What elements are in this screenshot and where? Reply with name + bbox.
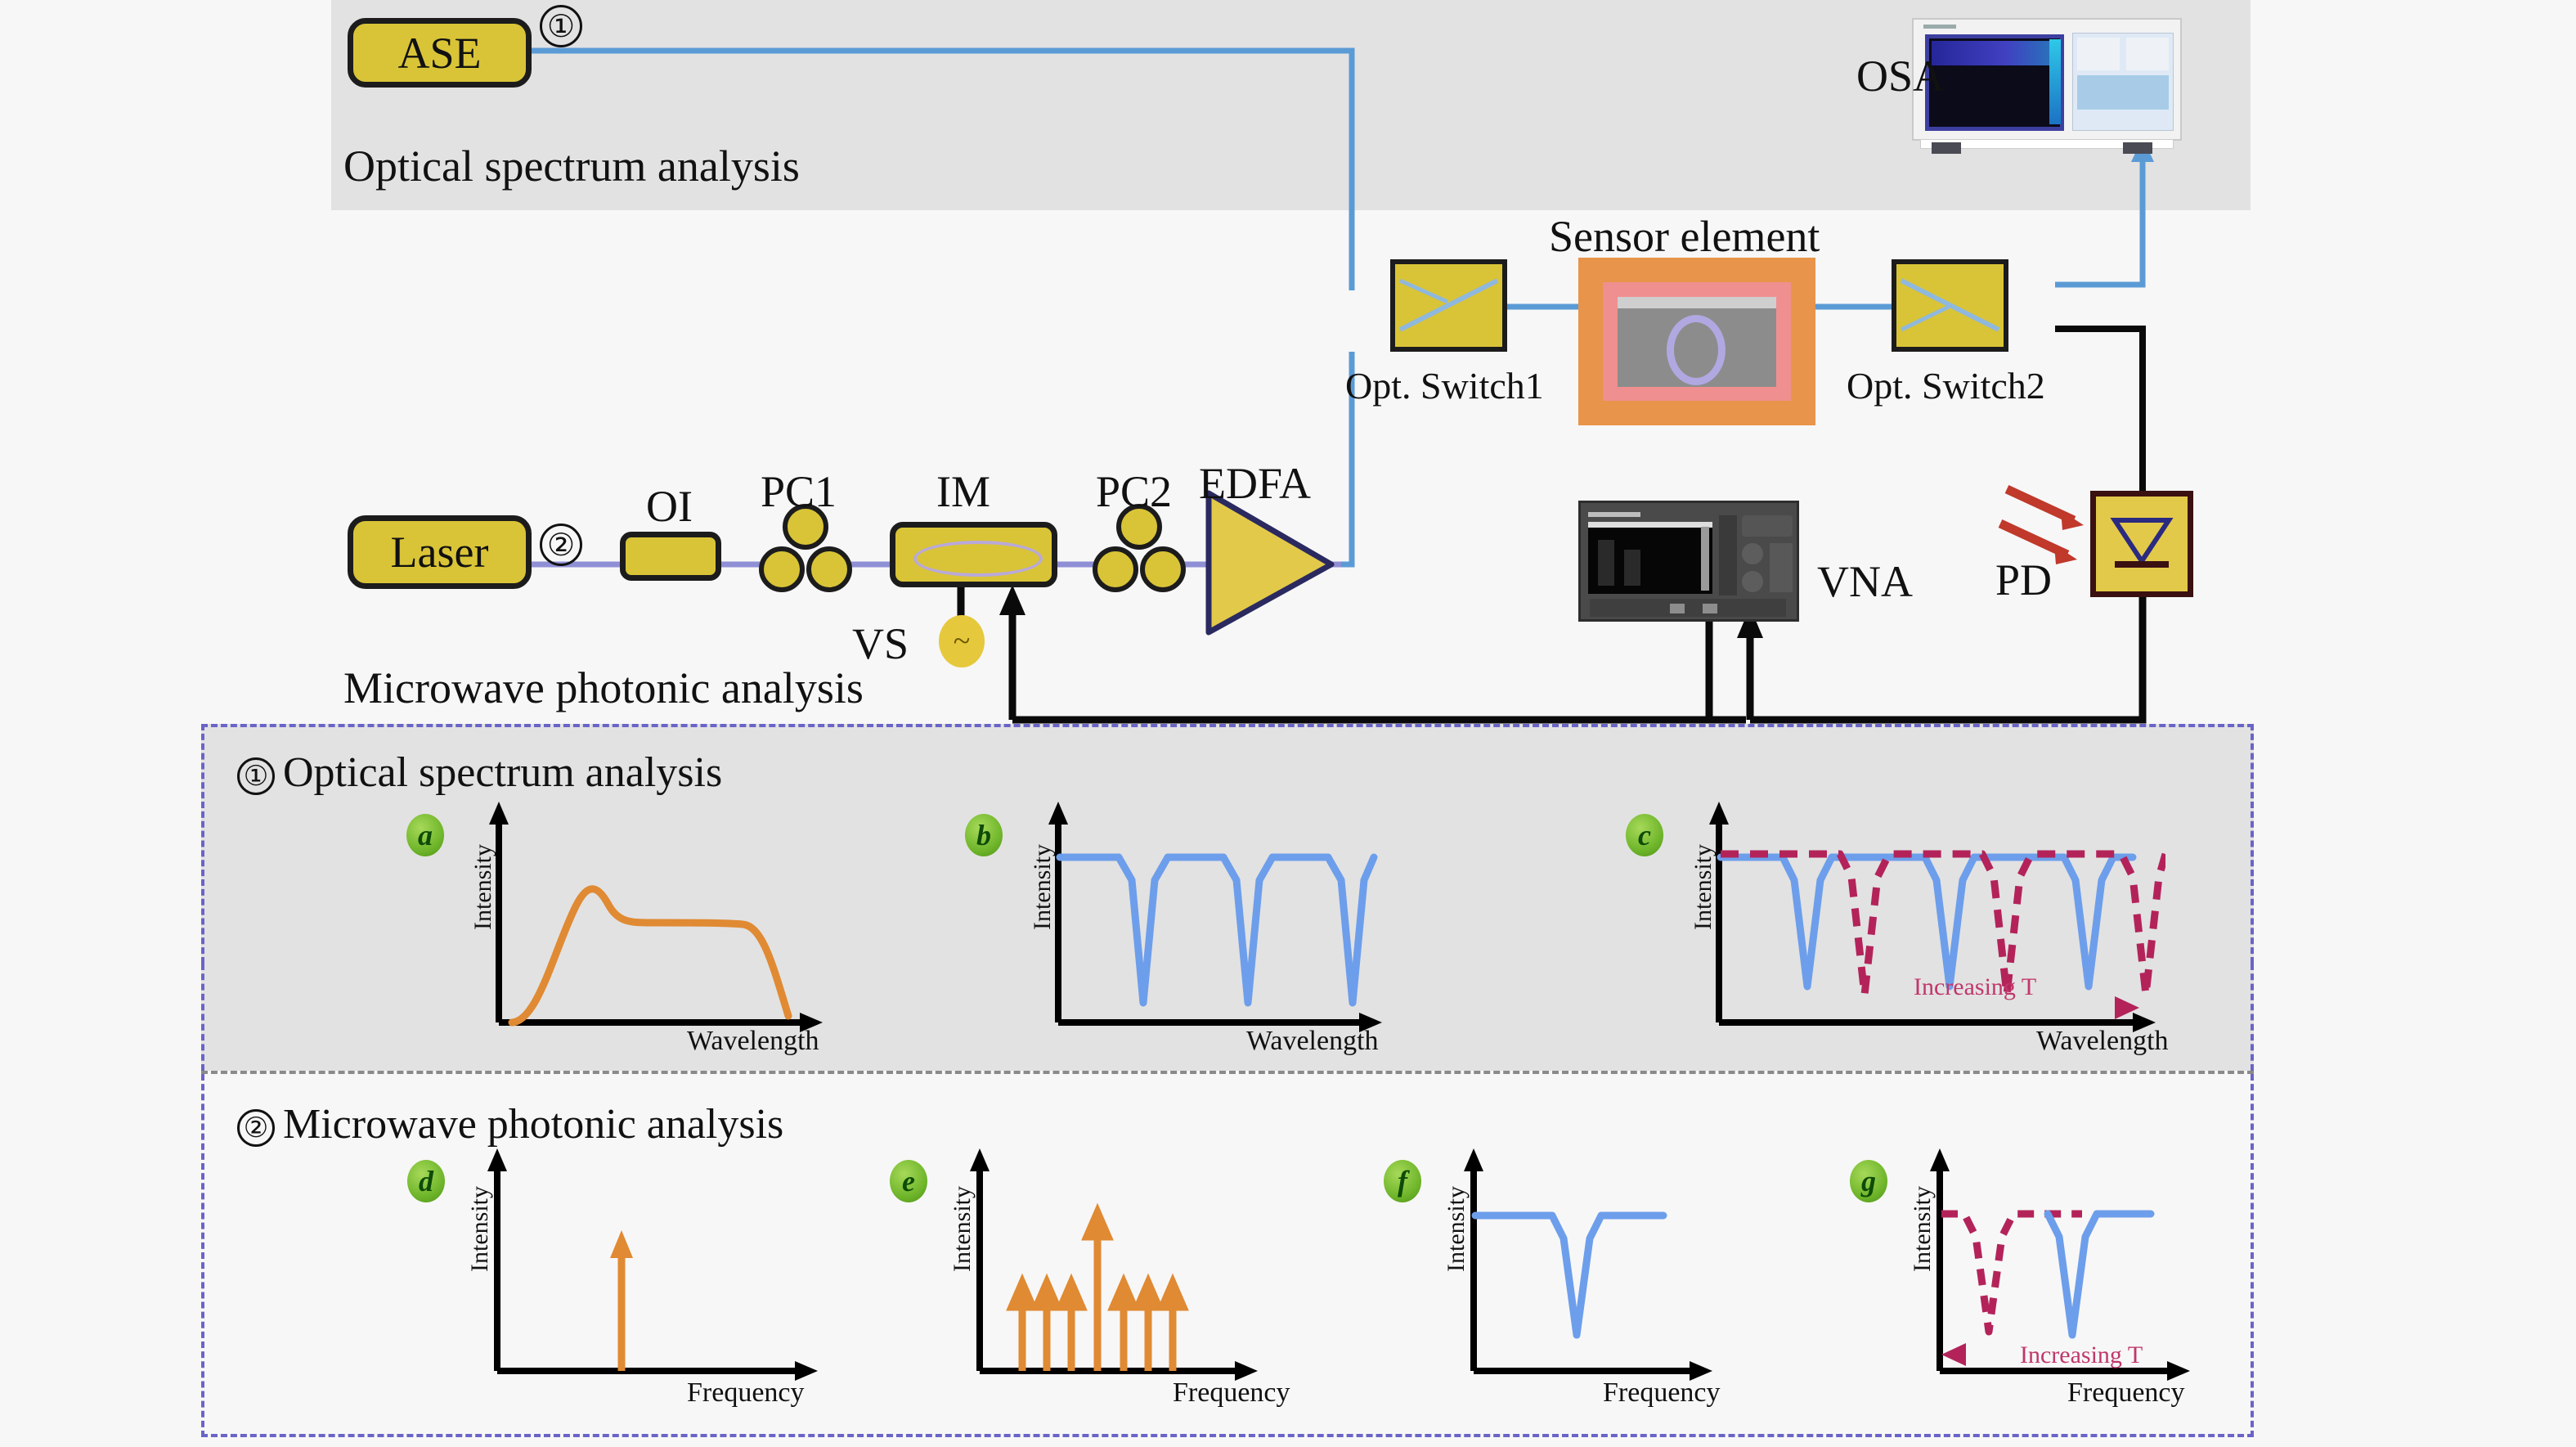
panel1-title: ①Optical spectrum analysis (237, 748, 722, 797)
vs-sine-symbol: ~ (954, 623, 971, 659)
intensity-modulator-label: IM (936, 466, 990, 517)
plot-b-xlabel: Wavelength (1246, 1026, 1379, 1057)
marker-circle-2: ② (540, 524, 582, 566)
edfa-label: EDFA (1199, 458, 1311, 509)
intensity-modulator-box[interactable] (890, 522, 1057, 587)
plot-a-chart (487, 802, 831, 1039)
plot-b-chart (1047, 802, 1390, 1039)
plot-e-chart (968, 1148, 1312, 1386)
ase-label: ASE (397, 28, 481, 79)
polarization-controller-1-label: PC1 (761, 466, 837, 517)
polarization-controller-2[interactable] (1091, 504, 1187, 594)
plot-badge-c: c (1626, 814, 1663, 856)
plot-c-chart (1708, 802, 2165, 1039)
sensor-element[interactable] (1578, 258, 1815, 425)
plot-d-xlabel: Frequency (687, 1377, 805, 1409)
plot-badge-d: d (407, 1160, 445, 1202)
voltage-source-label: VS (852, 618, 909, 669)
plot-badge-g: g (1850, 1160, 1887, 1202)
panel2-title-text: Microwave photonic analysis (283, 1101, 783, 1148)
optical-switch-1-label: Opt. Switch1 (1345, 364, 1544, 407)
panel1-title-text: Optical spectrum analysis (283, 749, 722, 796)
optical-isolator-label: OI (646, 481, 693, 532)
plot-d-chart (486, 1148, 829, 1386)
microwave-photonic-analysis-label: Microwave photonic analysis (343, 663, 864, 713)
polarization-controller-2-label: PC2 (1096, 466, 1172, 517)
osa-label: OSA (1856, 51, 1945, 101)
plot-f-chart (1462, 1148, 1806, 1386)
laser-label: Laser (391, 527, 489, 577)
optical-switch-1[interactable] (1390, 259, 1507, 352)
optical-switch-2[interactable] (1892, 259, 2008, 352)
plot-c-xlabel: Wavelength (2036, 1026, 2169, 1057)
plot-g-increasing-t-label: Increasing T (2020, 1341, 2143, 1369)
plot-c-increasing-t-label: Increasing T (1914, 973, 2036, 1001)
laser-box[interactable]: Laser (348, 515, 532, 589)
panel1-marker: ① (237, 757, 275, 795)
photodetector-label: PD (1995, 555, 2052, 605)
plot-badge-a: a (406, 814, 444, 856)
vna-instrument[interactable] (1578, 501, 1799, 622)
plot-e-xlabel: Frequency (1173, 1377, 1290, 1409)
plot-g-xlabel: Frequency (2067, 1377, 2185, 1409)
osa-instrument[interactable] (1912, 18, 2182, 153)
optical-isolator-box[interactable] (620, 532, 721, 581)
plot-f-xlabel: Frequency (1603, 1377, 1721, 1409)
panel2-title: ②Microwave photonic analysis (237, 1100, 783, 1148)
ase-source-box[interactable]: ASE (348, 18, 532, 88)
edfa-amplifier[interactable] (1202, 487, 1337, 638)
voltage-source-icon[interactable]: ~ (939, 615, 985, 667)
panel2-marker: ② (237, 1109, 275, 1147)
photodetector-box[interactable] (2090, 491, 2193, 597)
plot-badge-b: b (965, 814, 1003, 856)
plot-badge-f: f (1384, 1160, 1421, 1202)
plot-badge-e: e (890, 1160, 927, 1202)
plot-a-xlabel: Wavelength (687, 1026, 819, 1057)
marker-circle-1: ① (540, 5, 582, 47)
vna-label: VNA (1817, 556, 1913, 607)
polarization-controller-1[interactable] (757, 504, 854, 594)
micro-ring-resonator-icon (1667, 315, 1726, 385)
optical-switch-2-label: Opt. Switch2 (1847, 364, 2045, 407)
optical-spectrum-analysis-label: Optical spectrum analysis (343, 141, 800, 191)
sensor-element-label: Sensor element (1549, 211, 1820, 262)
